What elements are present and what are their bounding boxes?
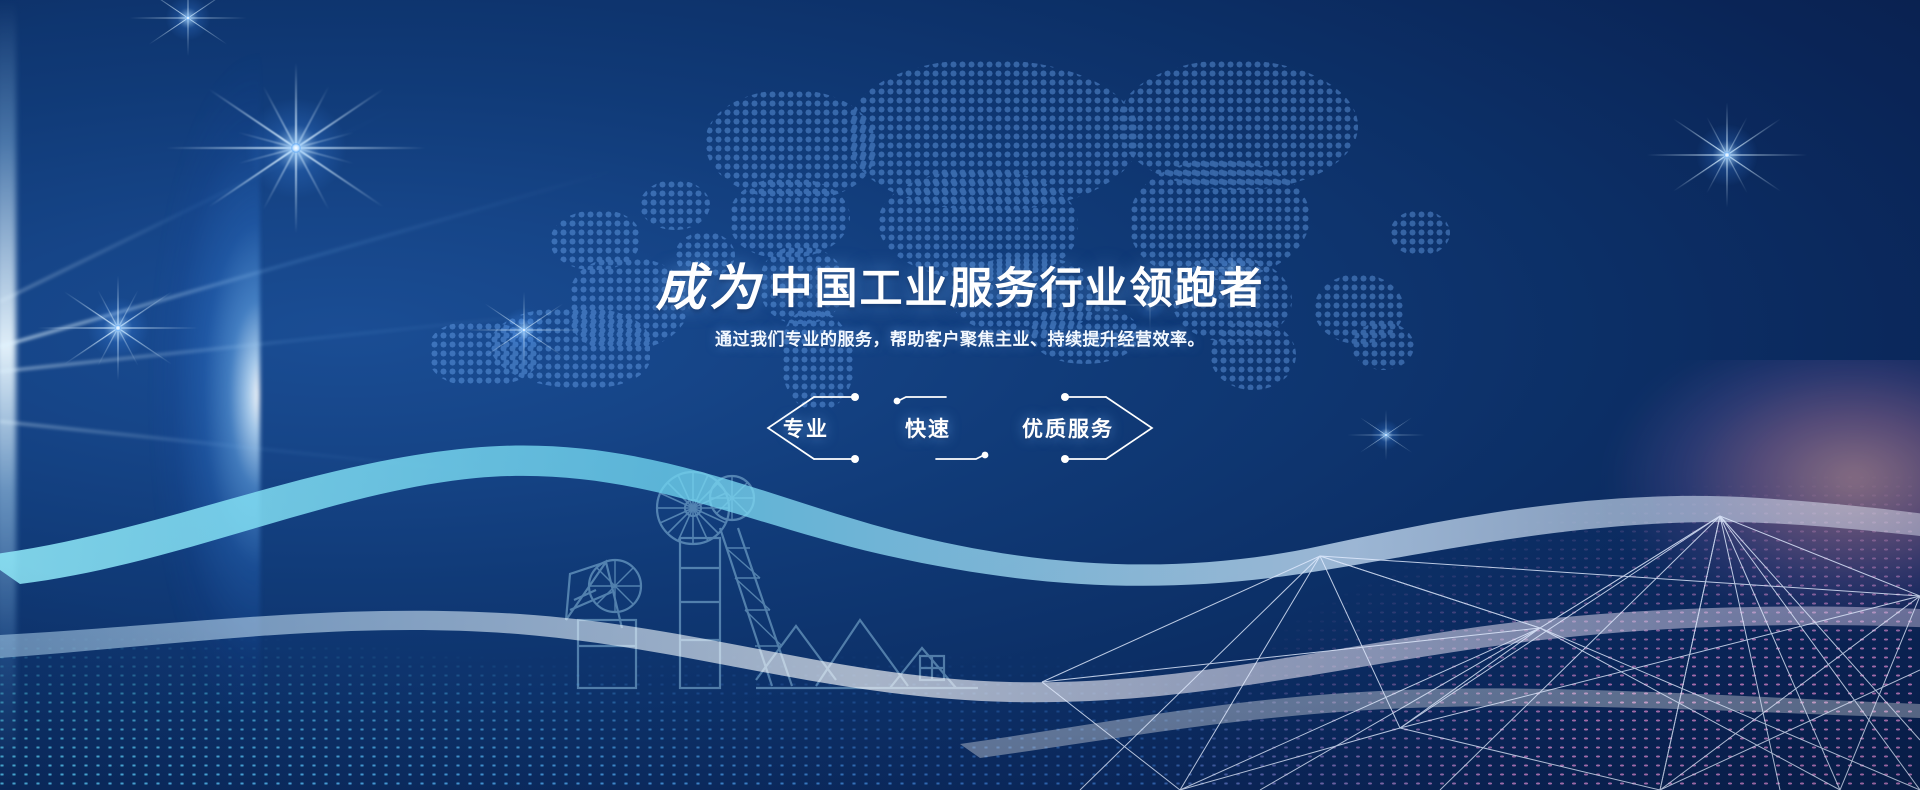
feature-tag-group: 专业 快速 优质服务 [750, 393, 1170, 463]
hero-banner: 成为中国工业服务行业领跑者 通过我们专业的服务，帮助客户聚焦主业、持续提升经营效… [0, 0, 1920, 790]
headline-rest-part: 中国工业服务行业领跑者 [770, 265, 1265, 313]
feature-tag-1[interactable]: 专业 [783, 413, 829, 443]
page-title: 成为中国工业服务行业领跑者 [0, 248, 1920, 320]
headline-brush-part: 成为 [656, 258, 764, 317]
feature-tag-2[interactable]: 快速 [905, 413, 951, 443]
page-subtitle: 通过我们专业的服务，帮助客户聚焦主业、持续提升经营效率。 [0, 325, 1920, 350]
feature-tag-3[interactable]: 优质服务 [1022, 413, 1114, 443]
